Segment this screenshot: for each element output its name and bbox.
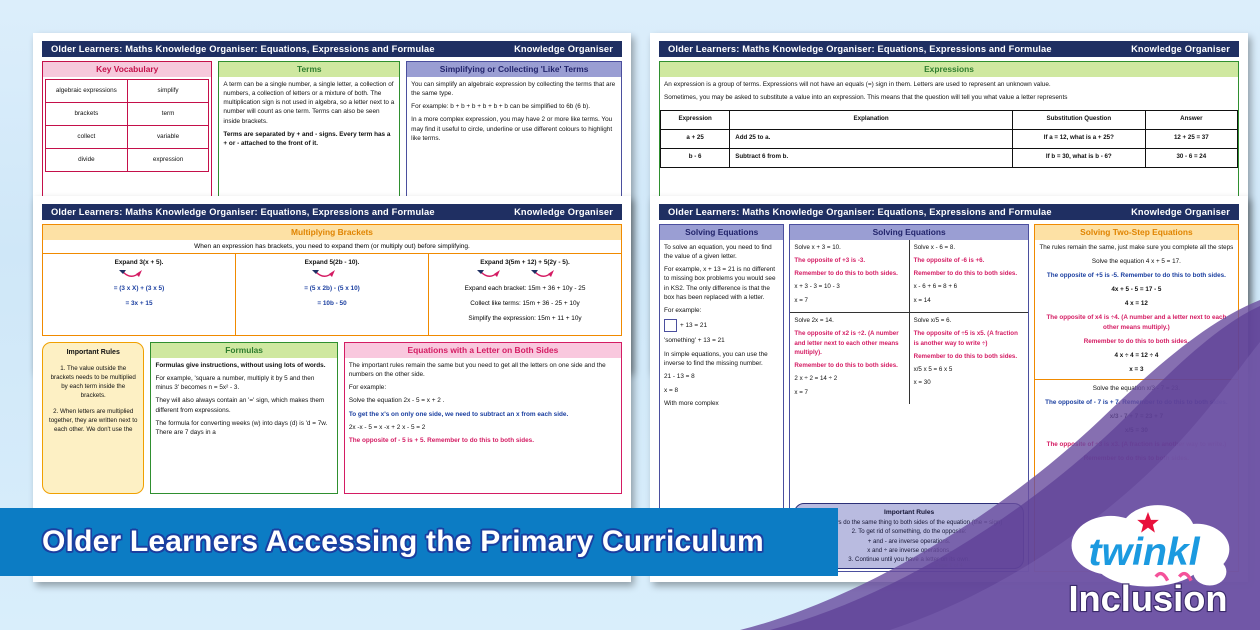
vocab-cell: algebraic expressions (46, 79, 128, 102)
formulas-paragraph: For example, 'square a number, multiply … (155, 374, 332, 393)
vocab-cell: term (127, 102, 209, 125)
explanation-cell: Add 25 to a. (730, 129, 1013, 148)
doc-header: Older Learners: Maths Knowledge Organise… (42, 41, 622, 57)
multiplying-example: Expand 3(x + 5). = (3 x X) + (3 x 5) = 3… (43, 254, 235, 336)
solve-line: The opposite of -6 is +6. (914, 256, 1024, 265)
solve-line: 2 x ÷ 2 = 14 ÷ 2 (794, 374, 904, 383)
banner-title-bar: Older Learners Accessing the Primary Cur… (0, 508, 838, 576)
two-step-line: Remember to do this to both sides. (1039, 337, 1234, 347)
table-row: b - 6 Subtract 6 from b. If b = 30, what… (661, 148, 1238, 167)
equation-line: To get the x's on only one side, we need… (349, 410, 617, 419)
expand-arrow-icon (306, 269, 358, 280)
panel-key-vocabulary-heading: Key Vocabulary (43, 62, 211, 77)
expressions-intro: An expression is a group of terms. Expre… (664, 80, 1234, 90)
multiplying-example: Expand 3(5m + 12) + 5(2y - 5). Expand ea… (428, 254, 621, 336)
panel-formulas-heading: Formulas (151, 343, 336, 358)
formulas-paragraph: Formulas give instructions, without usin… (155, 361, 332, 370)
solving-intro-paragraph: 'something' + 13 = 21 (664, 336, 779, 345)
expression-cell: a + 25 (661, 129, 730, 148)
vocab-cell: expression (127, 148, 209, 171)
two-step-line: Remember to do this to both sides. (1039, 454, 1234, 464)
example-question: Expand 5(2b - 10). (240, 258, 424, 269)
solve-line: The opposite of x2 is ÷2. (A number and … (794, 329, 904, 357)
screenshot-canvas: Older Learners: Maths Knowledge Organise… (0, 0, 1260, 630)
solving-intro-paragraph: To solve an equation, you need to find t… (664, 243, 779, 262)
multiplying-example: Expand 5(2b - 10). = (5 x 2b) - (5 x 10)… (235, 254, 428, 336)
solve-line: Remember to do this to both sides. (914, 352, 1024, 361)
panel-solving-examples-heading: Solving Equations (790, 225, 1027, 240)
explanation-cell: Subtract 6 from b. (730, 148, 1013, 167)
example-line: = (5 x 2b) - (5 x 10) (240, 284, 424, 295)
doc-header-right-label: Knowledge Organiser (1131, 44, 1230, 54)
two-step-line: Solve the equation x/3 - 7 = 23. (1039, 384, 1234, 394)
equation-line: For example: (349, 383, 617, 392)
table-header-row: Expression Explanation Substitution Ques… (661, 110, 1238, 129)
important-rules-title: Important Rules (48, 348, 138, 359)
solve-line: x = 7 (794, 388, 904, 397)
doc-header-title: Older Learners: Maths Knowledge Organise… (668, 207, 1052, 217)
table-row: collect variable (46, 125, 209, 148)
solve-line: x + 3 - 3 = 10 - 3 (794, 282, 904, 291)
table-row: a + 25 Add 25 to a. If a = 12, what is a… (661, 129, 1238, 148)
column-header: Answer (1145, 110, 1237, 129)
solving-intro-paragraph: x = 8 (664, 386, 779, 395)
panel-terms-heading: Terms (219, 62, 399, 77)
two-step-line: x/3 - 7 + 7 = 23 + 7 (1039, 412, 1234, 422)
expand-arrow-icon (113, 269, 165, 280)
substitution-cell: If a = 12, what is a + 25? (1012, 129, 1145, 148)
simplifying-paragraph: In a more complex expression, you may ha… (411, 115, 617, 143)
terms-paragraph: A term can be a single number, a single … (223, 80, 395, 126)
answer-cell: 12 + 25 = 37 (1145, 129, 1237, 148)
important-rules-item: 2. When letters are multiplied together,… (48, 407, 138, 435)
doc-header-right-label: Knowledge Organiser (514, 207, 613, 217)
important-rules-item: 1. The value outside the brackets needs … (48, 364, 138, 401)
panel-formulas: Formulas Formulas give instructions, wit… (150, 342, 337, 494)
answer-cell: 30 - 6 = 24 (1145, 148, 1237, 167)
two-step-line: 4 x = 12 (1039, 299, 1234, 309)
doc-header: Older Learners: Maths Knowledge Organise… (659, 41, 1239, 57)
panel-solving-intro-heading: Solving Equations (660, 225, 783, 240)
equation-line: Solve the equation 2x - 5 = x + 2 . (349, 396, 617, 405)
two-step-line: The opposite of x4 is ÷4. (A number and … (1039, 313, 1234, 333)
doc-header-title: Older Learners: Maths Knowledge Organise… (51, 44, 435, 54)
doc-header: Older Learners: Maths Knowledge Organise… (42, 204, 622, 220)
missing-box-equation: + 13 = 21 (664, 319, 779, 332)
solve-line: Remember to do this to both sides. (794, 361, 904, 370)
doc-header: Older Learners: Maths Knowledge Organise… (659, 204, 1239, 220)
two-step-line: The opposite of +5 is -5. Remember to do… (1039, 271, 1234, 281)
two-step-line: The opposite of - 7 is + 7. Remember to … (1039, 398, 1234, 408)
solve-line: The opposite of +3 is -3. (794, 256, 904, 265)
table-row: algebraic expressions simplify (46, 79, 209, 102)
solving-intro-paragraph: In simple equations, you can use the inv… (664, 350, 779, 369)
example-line: = 3x + 15 (47, 299, 231, 310)
box-equation-text: + 13 = 21 (680, 323, 707, 330)
formulas-paragraph: The formula for converting weeks (w) int… (155, 419, 332, 438)
terms-paragraph: Terms are separated by + and - signs. Ev… (223, 130, 395, 149)
expressions-table: Expression Explanation Substitution Ques… (660, 110, 1238, 168)
solving-example-cell: Solve x + 3 = 10. The opposite of +3 is … (790, 240, 908, 312)
vocab-cell: brackets (46, 102, 128, 125)
vocab-cell: divide (46, 148, 128, 171)
panel-expressions-heading: Expressions (660, 62, 1238, 77)
empty-box-icon (664, 319, 677, 332)
solve-line: x = 30 (914, 378, 1024, 387)
multiplying-brackets-intro: When an expression has brackets, you nee… (43, 240, 621, 254)
expand-arrow-icon (471, 269, 579, 280)
example-line: Collect like terms: 15m + 36 - 25 + 10y (433, 299, 617, 310)
key-vocabulary-table: algebraic expressions simplify brackets … (45, 79, 209, 173)
solving-example-cell: Solve x/5 = 6. The opposite of ÷5 is x5.… (909, 313, 1028, 404)
simplifying-paragraph: For example: b + b + b + b + b + b can b… (411, 102, 617, 111)
two-step-line: The rules remain the same, just make sur… (1039, 243, 1234, 253)
formulas-paragraph: They will also always contain an '=' sig… (155, 396, 332, 415)
two-step-line: The opposite of ÷3 is x3. (A fraction is… (1039, 440, 1234, 450)
solve-line: x/5 x 5 = 6 x 5 (914, 365, 1024, 374)
panel-simplifying-heading: Simplifying or Collecting 'Like' Terms (407, 62, 621, 77)
two-step-line: x = 3 (1039, 365, 1234, 375)
example-question: Expand 3(x + 5). (47, 258, 231, 269)
solving-example-cell: Solve 2x = 14. The opposite of x2 is ÷2.… (790, 313, 908, 404)
solve-line: Solve x + 3 = 10. (794, 243, 904, 252)
important-rules-box: Important Rules 1. The value outside the… (42, 342, 144, 494)
solving-example-cell: Solve x - 6 = 8. The opposite of -6 is +… (909, 240, 1028, 312)
solve-line: Solve 2x = 14. (794, 316, 904, 325)
inclusion-wordmark: Inclusion (1068, 578, 1227, 619)
example-question: Expand 3(5m + 12) + 5(2y - 5). (433, 258, 617, 269)
example-line: = 10b - 50 (240, 299, 424, 310)
vocab-cell: simplify (127, 79, 209, 102)
doc-header-right-label: Knowledge Organiser (1131, 207, 1230, 217)
vocab-cell: variable (127, 125, 209, 148)
solve-line: Solve x/5 = 6. (914, 316, 1024, 325)
solving-intro-paragraph: For example: (664, 306, 779, 315)
simplifying-paragraph: You can simplify an algebraic expression… (411, 80, 617, 99)
solving-intro-paragraph: For example, x + 13 = 21 is no different… (664, 265, 779, 302)
divider (1035, 379, 1238, 380)
doc-header-title: Older Learners: Maths Knowledge Organise… (668, 44, 1052, 54)
solve-line: x - 6 + 6 = 8 + 6 (914, 282, 1024, 291)
vocab-cell: collect (46, 125, 128, 148)
panel-multiplying-brackets: Multiplying Brackets When an expression … (42, 224, 622, 336)
equation-line: 2x -x - 5 = x -x + 2 x - 5 = 2 (349, 423, 617, 432)
twinkl-inclusion-logo[interactable]: twinkl Inclusion (1050, 500, 1246, 622)
two-step-line: x/5 = 30 (1039, 426, 1234, 436)
solve-line: Remember to do this to both sides. (914, 269, 1024, 278)
table-row: brackets term (46, 102, 209, 125)
solve-line: x = 7 (794, 296, 904, 305)
solve-line: Solve x - 6 = 8. (914, 243, 1024, 252)
equation-line: The important rules remain the same but … (349, 361, 617, 380)
panel-multiplying-brackets-heading: Multiplying Brackets (43, 225, 621, 240)
twinkl-wordmark: twinkl (1089, 531, 1201, 574)
two-step-line: 4x + 5 - 5 = 17 - 5 (1039, 285, 1234, 295)
example-line: Simplify the expression: 15m + 11 + 10y (433, 314, 617, 325)
banner-title: Older Learners Accessing the Primary Cur… (0, 525, 764, 559)
solving-intro-paragraph: With more complex (664, 399, 779, 408)
solve-line: The opposite of ÷5 is x5. (A fraction is… (914, 329, 1024, 348)
column-header: Explanation (730, 110, 1013, 129)
solve-line: x = 14 (914, 296, 1024, 305)
equation-line: The opposite of - 5 is + 5. Remember to … (349, 436, 617, 445)
two-step-line: Solve the equation 4 x + 5 = 17. (1039, 257, 1234, 267)
column-header: Expression (661, 110, 730, 129)
solving-intro-paragraph: 21 - 13 = 8 (664, 372, 779, 381)
example-line: Expand each bracket: 15m + 36 + 10y - 25 (433, 284, 617, 295)
solve-line: Remember to do this to both sides. (794, 269, 904, 278)
panel-equations-both-sides: Equations with a Letter on Both Sides Th… (344, 342, 622, 494)
expressions-intro: Sometimes, you may be asked to substitut… (664, 93, 1234, 103)
doc-header-title: Older Learners: Maths Knowledge Organise… (51, 207, 435, 217)
doc-header-right-label: Knowledge Organiser (514, 44, 613, 54)
column-header: Substitution Question (1012, 110, 1145, 129)
example-line: = (3 x X) + (3 x 5) (47, 284, 231, 295)
panel-equations-both-sides-heading: Equations with a Letter on Both Sides (345, 343, 621, 358)
table-row: divide expression (46, 148, 209, 171)
substitution-cell: If b = 30, what is b - 6? (1012, 148, 1145, 167)
expression-cell: b - 6 (661, 148, 730, 167)
two-step-line: 4 x ÷ 4 = 12 ÷ 4 (1039, 351, 1234, 361)
panel-two-step-heading: Solving Two-Step Equations (1035, 225, 1238, 240)
